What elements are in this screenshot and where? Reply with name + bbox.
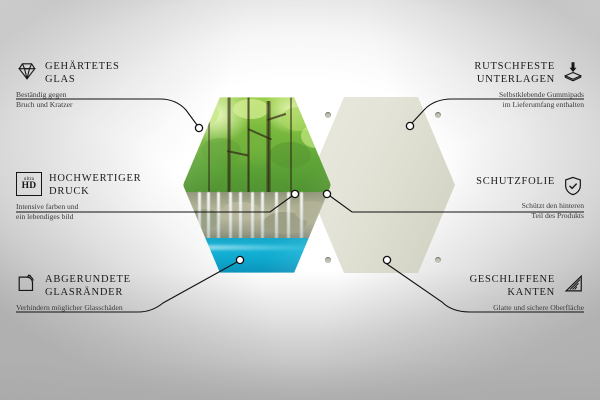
feature-polished-edges: GESCHLIFFENE KANTEN Glatte und sichere O… <box>384 273 584 313</box>
feature-title: RUTSCHFESTE UNTERLAGEN <box>474 60 555 86</box>
feature-high-quality-print: ultra HD HOCHWERTIGER DRUCK Intensive fa… <box>16 172 206 222</box>
water-highlight <box>195 245 313 250</box>
feature-non-slip-pads: RUTSCHFESTE UNTERLAGEN Selbstklebende Gu… <box>394 60 584 110</box>
feature-subtitle: Verhindern möglicher Glasschäden <box>16 303 216 313</box>
feature-subtitle: Intensive farben und ein lebendiges bild <box>16 202 206 222</box>
feature-rounded-glass-edges: ABGERUNDETE GLASRÄNDER Verhindern möglic… <box>16 273 216 313</box>
feature-title: GEHÄRTETES GLAS <box>45 60 120 86</box>
feature-tempered-glass: GEHÄRTETES GLAS Beständig gegen Bruch un… <box>16 60 206 110</box>
ultra-hd-icon-bottom: HD <box>22 182 37 192</box>
feature-title: HOCHWERTIGER DRUCK <box>49 172 141 198</box>
diamond-icon <box>16 60 38 82</box>
feature-subtitle: Schützt den hinteren Teil des Produkts <box>394 201 584 221</box>
feature-subtitle: Glatte und sichere Oberfläche <box>384 303 584 313</box>
mounting-hole <box>325 257 331 263</box>
feature-subtitle: Beständig gegen Bruch und Kratzer <box>16 90 206 110</box>
infographic-canvas: GEHÄRTETES GLAS Beständig gegen Bruch un… <box>0 0 600 400</box>
feature-title: SCHUTZFOLIE <box>476 175 555 188</box>
mounting-hole <box>325 112 331 118</box>
ultra-hd-icon: ultra HD <box>16 172 42 196</box>
feature-title: ABGERUNDETE GLASRÄNDER <box>45 273 131 299</box>
feature-title: GESCHLIFFENE KANTEN <box>470 273 555 299</box>
rounded-corner-icon <box>16 273 38 295</box>
feature-subtitle: Selbstklebende Gummipads im Lieferumfang… <box>394 90 584 110</box>
hatched-wedge-icon <box>562 273 584 295</box>
mounting-hole <box>435 257 441 263</box>
press-pad-icon <box>562 60 584 82</box>
shield-check-icon <box>562 175 584 197</box>
feature-protective-film: SCHUTZFOLIE Schützt den hinteren Teil de… <box>394 175 584 221</box>
mounting-hole <box>435 112 441 118</box>
